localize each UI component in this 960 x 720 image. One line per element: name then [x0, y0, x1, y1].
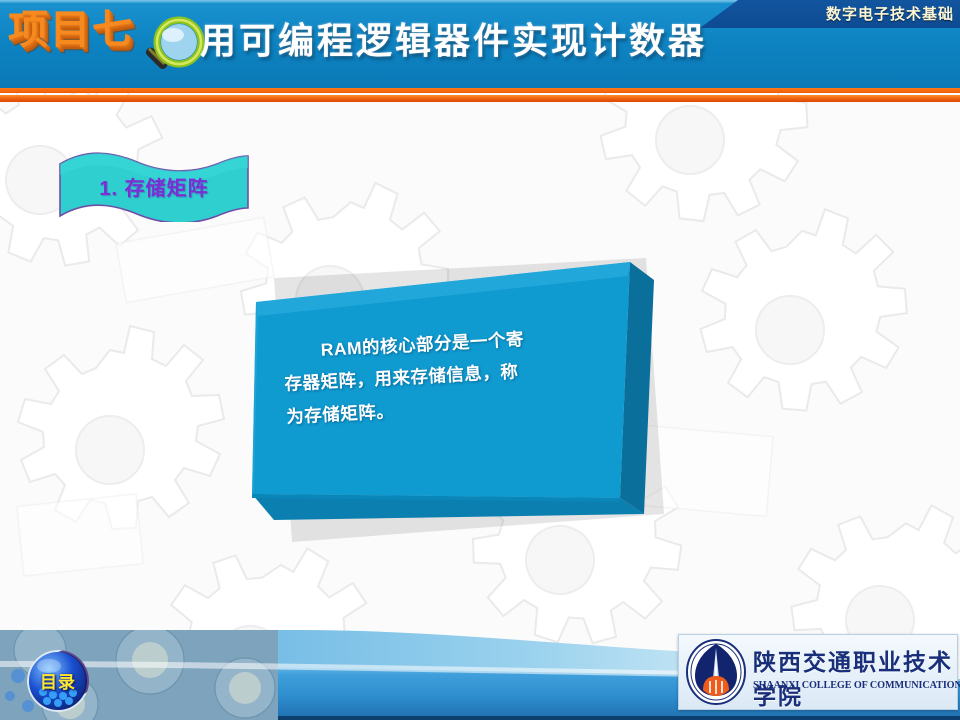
- school-emblem-icon: [683, 638, 749, 706]
- accent-stripe-upper: [0, 88, 960, 93]
- project-number-label: 项目七: [8, 10, 134, 50]
- slide-title: 用可编程逻辑器件实现计数器: [200, 20, 707, 61]
- magnifier-icon: [138, 14, 208, 84]
- slide-header: 项目七 用可编程逻辑器件实现计数器 数字电子技术基础: [0, 0, 960, 88]
- institution-name-en: SHAANXI COLLEGE OF COMMUNICATION TECHNOL…: [753, 680, 960, 691]
- slide-canvas: 项目七 用可编程逻辑器件实现计数器 数字电子技术基础 1. 存储矩阵: [0, 0, 960, 720]
- contents-button-label[interactable]: 目录: [27, 668, 89, 693]
- section-banner-label: 1. 存储矩阵: [57, 150, 251, 222]
- course-name-label: 数字电子技术基础: [826, 3, 954, 24]
- paragraph-indent: [283, 356, 321, 358]
- institution-name-cn: 陕西交通职业技术学院: [753, 643, 957, 711]
- institution-logo: 陕西交通职业技术学院 SHAANXI COLLEGE OF COMMUNICAT…: [678, 634, 958, 710]
- accent-stripe-lower: [0, 95, 960, 102]
- content-paragraph: RAM的核心部分是一个寄 存器矩阵，用来存储信息，称 为存储矩阵。: [282, 318, 617, 433]
